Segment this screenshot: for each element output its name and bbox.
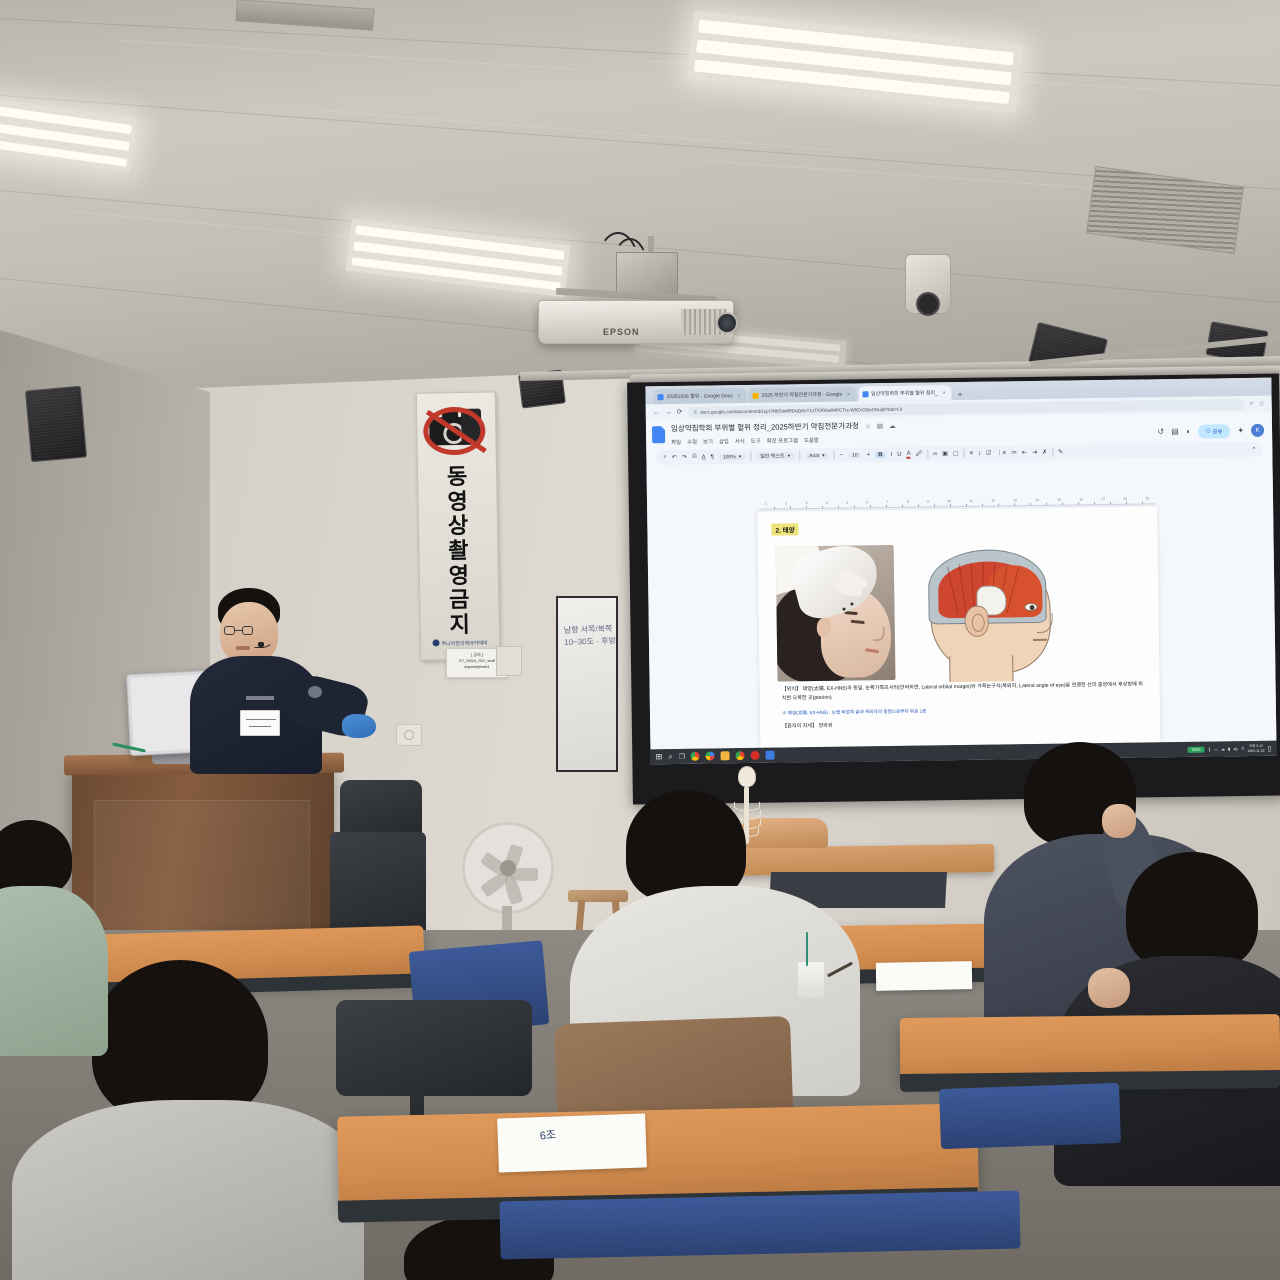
palpation-photo — [776, 545, 896, 682]
document-page[interactable]: 2. 태양 — [757, 506, 1160, 748]
ruler-tick: 14 — [1035, 498, 1039, 502]
document-paragraph-location: 【위치】 태양(太陽, EX-HN5)과 동일. 눈확가쪽모서리(안와외연, L… — [782, 680, 1146, 703]
menu-item-extensions[interactable]: 확장 프로그램 — [767, 436, 798, 444]
font-size-input[interactable]: 10 — [848, 452, 862, 458]
share-button[interactable]: ⚇ 공유 — [1198, 424, 1231, 438]
microphone-capsule-icon — [258, 642, 264, 647]
projector-lens-icon — [716, 312, 738, 334]
zoom-value: 100% — [723, 454, 736, 460]
spellcheck-icon[interactable]: A̲ — [702, 454, 706, 460]
google-docs-app: 임상약침학회 부위별 혈위 정리_2025하반기 약침전문가과정 ☆ ▤ ☁ 파… — [646, 412, 1277, 750]
chrome-icon[interactable] — [691, 752, 700, 761]
font-value: Arial — [809, 452, 819, 458]
academy-logo-text: 주니어한의학아카데미 — [442, 641, 488, 648]
fan-hub — [500, 860, 516, 876]
menu-item-help[interactable]: 도움말 — [804, 436, 819, 444]
clear-formatting-button[interactable]: ✗ — [1042, 449, 1047, 456]
page-favicon-icon — [753, 392, 759, 398]
ruler-tick: 11 — [969, 499, 972, 503]
chair-back-blue-right[interactable] — [939, 1083, 1121, 1149]
ruler-tick: 17 — [1101, 497, 1105, 501]
font-size-increase-button[interactable]: + — [867, 452, 871, 458]
url-text: docs.google.com/document/d/1aj-fJNbSIaM8… — [700, 406, 902, 414]
ruler-tick: 1 — [765, 502, 767, 506]
wall-speaker-left — [25, 386, 87, 463]
whiteboard-handwriting: 남향 서쪽/북쪽 10~30도 · 후방 — [564, 623, 616, 649]
gemini-sparkle-icon[interactable]: ✦ — [1237, 426, 1244, 435]
drink-cup[interactable] — [798, 962, 824, 998]
document-heading: 2. 태양 — [771, 523, 798, 535]
checklist-button[interactable]: ☑ — [986, 450, 991, 457]
numbered-list-button[interactable]: ≔ — [1011, 449, 1017, 456]
ruler-tick: 6 — [866, 500, 868, 504]
sign-text-vertical: 동 영 상 촬 영 금 지 — [447, 465, 470, 638]
font-family-select[interactable]: Arial ▾ — [805, 452, 829, 458]
bold-button[interactable]: B — [875, 452, 885, 458]
ruler-tick: 4 — [826, 501, 828, 505]
cloud-saved-icon: ☁ — [889, 423, 896, 430]
pedestal-fan — [462, 822, 554, 914]
docs-header-actions: ↺ ▤ ◗ ⚇ 공유 ✦ K — [1157, 415, 1264, 443]
document-figures — [776, 541, 1146, 681]
temporalis-anatomy-illustration — [912, 543, 1064, 680]
drive-icon[interactable] — [766, 751, 775, 760]
whiteboard: 남향 서쪽/북쪽 10~30도 · 후방 — [556, 596, 618, 772]
chrome-icon[interactable] — [736, 751, 745, 760]
chrome-browser-window: 20251026 혈위 - Google Docs × 2025 하반기 약침전… — [645, 378, 1276, 750]
windows-desktop: 20251026 혈위 - Google Docs × 2025 하반기 약침전… — [645, 378, 1276, 765]
bullet-list-button[interactable]: ⋮≡ — [996, 449, 1006, 456]
chevron-down-icon: ▾ — [739, 454, 742, 460]
back-icon[interactable]: ← — [653, 409, 660, 416]
ruler-tick: 13 — [1013, 498, 1017, 502]
blue-glove-icon[interactable] — [342, 714, 376, 738]
chair-back-blue[interactable] — [499, 1191, 1020, 1260]
desk-paper-note[interactable]: 6조 — [497, 1113, 647, 1172]
student-hair — [0, 820, 72, 896]
meet-icon[interactable]: ◗ — [1186, 427, 1191, 436]
avatar[interactable]: K — [1251, 424, 1264, 437]
presenter — [196, 588, 376, 798]
undo-icon[interactable]: ↶ — [672, 454, 677, 461]
tab-title: 20251026 혈위 - Google Docs — [666, 392, 732, 400]
tab-title: 2025 하반기 약침전문가과정 - Google — [762, 391, 843, 399]
reload-icon[interactable]: ⟳ — [677, 408, 683, 416]
ruler-tick-labels: 1 2 3 4 5 6 7 8 9 10 11 12 13 — [759, 496, 1155, 506]
italic-button[interactable]: I — [891, 451, 893, 457]
toolbar-divider — [750, 452, 751, 461]
document-title[interactable]: 임상약침학회 부위별 혈위 정리_2025하반기 약침전문가과정 — [671, 421, 859, 433]
sign-char: 동 — [447, 465, 468, 490]
google-docs-icon[interactable] — [652, 426, 665, 443]
browser-tab-3[interactable]: 임상약침학회 부위별 혈위 정리_ × — [858, 385, 952, 401]
toolbar-divider — [1052, 448, 1053, 457]
projector-brand-text: EPSON — [603, 327, 640, 337]
search-icon[interactable]: ⌕ — [663, 454, 666, 461]
taskbar-search-icon[interactable]: ⌕ — [668, 752, 673, 762]
start-icon[interactable]: ⊞ — [656, 752, 663, 761]
browser-tab-2[interactable]: 2025 하반기 약침전문가과정 - Google × — [749, 386, 857, 402]
wall-conduit-box — [496, 646, 522, 676]
ruler-tick: 2 — [785, 501, 787, 505]
menu-item-tools[interactable]: 도구 — [751, 437, 761, 445]
student-hair — [1126, 852, 1258, 972]
tab-close-icon[interactable]: × — [943, 390, 946, 396]
editing-mode-pen-icon[interactable]: ✎ — [1058, 449, 1063, 456]
lecture-room-scene: Google Docs EPSON 동 영 상 촬 영 금 지 주니어한의학아카… — [0, 0, 1280, 1280]
menu-item-format[interactable]: 서식 — [735, 437, 745, 445]
student-torso — [12, 1100, 364, 1280]
person-add-icon: ⚇ — [1206, 428, 1211, 434]
browser-tab-1[interactable]: 20251026 혈위 - Google Docs × — [653, 388, 746, 404]
projection-screen-surface: 20251026 혈위 - Google Docs × 2025 하반기 약침전… — [645, 378, 1276, 765]
text-color-button[interactable]: A — [907, 450, 911, 458]
ruler-tick: 18 — [1123, 497, 1127, 501]
student-torso — [0, 886, 108, 1056]
docs-favicon-icon — [657, 394, 663, 400]
ruler-tick: 3 — [806, 501, 808, 505]
crossed-out-camera-icon — [421, 402, 492, 459]
font-size-decrease-button[interactable]: − — [840, 452, 844, 458]
wall-power-outlet[interactable] — [396, 724, 422, 746]
no-video-recording-sign: 동 영 상 촬 영 금 지 주니어한의학아카데미 — [416, 391, 501, 660]
straw-icon — [806, 932, 808, 966]
version-history-icon[interactable]: ↺ — [1157, 427, 1164, 436]
document-paragraph-posture: 【환자의 자세】 앙와위 — [782, 718, 1146, 732]
show-desktop-icon[interactable]: ▯ — [1268, 744, 1272, 752]
zoom-level-select[interactable]: 100% ▾ — [719, 454, 745, 460]
projector-body: Google Docs EPSON — [538, 300, 734, 344]
paragraph-style-select[interactable]: 일반 텍스트 ▾ — [756, 452, 794, 460]
ruler-tick: 12 — [991, 499, 995, 503]
student-hand — [1088, 968, 1130, 1008]
sign-char: 영 — [447, 489, 468, 514]
ruler-tick: 16 — [1079, 497, 1083, 501]
bookmark-star-icon[interactable]: ☆ — [1258, 400, 1264, 408]
share-label: 공유 — [1212, 427, 1222, 435]
increase-indent-button[interactable]: ⇥ — [1032, 449, 1037, 456]
photos-icon[interactable] — [706, 751, 715, 760]
comment-icon[interactable]: ▤ — [1171, 427, 1179, 436]
tab-title: 임상약침학회 부위별 혈위 정리_ — [871, 389, 938, 397]
clock-date: 2025-11-02 — [1248, 748, 1265, 752]
ruler-tick: 19 — [1145, 496, 1149, 500]
student-hair — [92, 960, 268, 1122]
print-icon[interactable]: ⎙ — [692, 454, 697, 461]
audience-member-left-edge — [0, 820, 110, 1060]
insert-image-button[interactable]: ▢ — [953, 450, 959, 457]
collapse-toolbar-icon[interactable]: ^ — [1252, 446, 1255, 452]
forward-icon[interactable]: → — [665, 409, 672, 416]
tab-close-icon[interactable]: × — [738, 393, 741, 399]
line-spacing-button[interactable]: ↕ — [978, 450, 981, 456]
toolbar-divider — [799, 451, 800, 460]
desk-paper-right[interactable] — [876, 961, 972, 991]
align-button[interactable]: ≡ — [970, 450, 974, 456]
task-view-icon[interactable]: ❐ — [679, 752, 685, 760]
menu-item-edit[interactable]: 수정 — [687, 438, 697, 446]
zoom-icon[interactable]: ⌕ — [1249, 400, 1253, 408]
explorer-icon[interactable] — [721, 751, 730, 760]
logo-mark-icon — [432, 639, 439, 646]
presenter-logo-embroidery — [246, 696, 274, 700]
sign-char: 지 — [449, 613, 470, 638]
academy-logo: 주니어한의학아카데미 — [432, 639, 487, 648]
move-folder-icon[interactable]: ▤ — [877, 423, 883, 430]
chevron-down-icon: ▾ — [822, 452, 825, 458]
tab-close-icon[interactable]: × — [847, 391, 850, 397]
redo-icon[interactable]: ↷ — [682, 454, 687, 461]
taskbar-clock[interactable]: 오후 6:12 2025-11-02 — [1247, 744, 1264, 753]
paper-handwriting: 6조 — [539, 1126, 557, 1143]
pdf-icon[interactable] — [751, 751, 760, 760]
ruler-tick: 9 — [927, 499, 929, 503]
add-comment-button[interactable]: ▣ — [942, 450, 948, 457]
presenter-shoulder-patch — [308, 686, 322, 698]
highlight-color-button[interactable]: 🖉 — [916, 449, 923, 459]
menu-item-insert[interactable]: 삽입 — [719, 437, 729, 445]
whiteboard-line-2: 10~30도 · 후방 — [564, 635, 616, 649]
insert-link-button[interactable]: ∞ — [933, 451, 937, 457]
chevron-down-icon: ▾ — [788, 453, 791, 459]
paint-format-icon[interactable]: ¶ — [711, 454, 714, 460]
presenter-mouth — [236, 646, 250, 650]
ruler-tick: 10 — [947, 499, 951, 503]
document-paragraph-note: ※ 태양(太陽, EX-HN5) : 눈썹 바깥쪽 끝과 목외자의 중점으로부터… — [782, 704, 1146, 717]
docs-favicon-icon — [862, 391, 868, 397]
ruler-tick: 8 — [907, 500, 909, 504]
ruler-tick: 7 — [887, 500, 889, 504]
star-icon[interactable]: ☆ — [865, 423, 871, 430]
ear-icon — [964, 606, 988, 637]
sign-char: 촬 — [448, 539, 469, 564]
style-value: 일반 텍스트 — [760, 452, 784, 459]
menu-item-file[interactable]: 파일 — [671, 438, 681, 446]
ruler-tick: 5 — [846, 501, 848, 505]
menu-item-view[interactable]: 보기 — [703, 437, 713, 445]
sign-char: 영 — [449, 563, 470, 588]
underline-button[interactable]: U — [897, 451, 901, 457]
student-hand — [1102, 804, 1136, 838]
toolbar-divider — [964, 449, 965, 458]
ruler-tick: 15 — [1057, 498, 1061, 502]
decrease-indent-button[interactable]: ⇤ — [1022, 449, 1027, 456]
toolbar-divider — [834, 451, 835, 460]
camera-lens-icon — [916, 292, 940, 316]
sign-char: 상 — [448, 514, 469, 539]
toolbar-divider — [927, 449, 928, 458]
lock-icon: ⚿ — [694, 409, 698, 414]
sign-char: 금 — [449, 588, 470, 613]
skull-icon — [738, 766, 756, 787]
new-tab-button[interactable]: + — [954, 390, 967, 400]
name-badge — [240, 710, 280, 736]
